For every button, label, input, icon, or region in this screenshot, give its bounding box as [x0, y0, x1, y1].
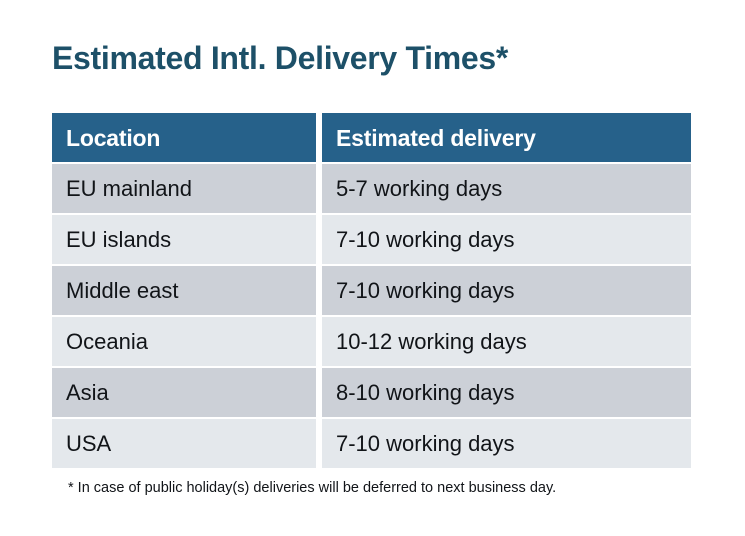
cell-location: EU mainland: [52, 164, 316, 213]
table-row: EU islands 7-10 working days: [52, 215, 691, 264]
column-header-location: Location: [52, 113, 316, 162]
column-header-estimated-delivery: Estimated delivery: [322, 113, 691, 162]
cell-delivery: 8-10 working days: [322, 368, 691, 417]
page-title: Estimated Intl. Delivery Times*: [52, 38, 508, 78]
cell-delivery: 5-7 working days: [322, 164, 691, 213]
table-row: Middle east 7-10 working days: [52, 266, 691, 315]
cell-delivery: 7-10 working days: [322, 266, 691, 315]
cell-location: Middle east: [52, 266, 316, 315]
table-header-row: Location Estimated delivery: [52, 113, 691, 162]
table-row: Asia 8-10 working days: [52, 368, 691, 417]
cell-delivery: 10-12 working days: [322, 317, 691, 366]
delivery-times-page: Estimated Intl. Delivery Times* Location…: [0, 0, 745, 536]
table-row: USA 7-10 working days: [52, 419, 691, 468]
cell-location: USA: [52, 419, 316, 468]
footnote-text: * In case of public holiday(s) deliverie…: [68, 478, 556, 498]
cell-location: EU islands: [52, 215, 316, 264]
cell-location: Oceania: [52, 317, 316, 366]
table-row: EU mainland 5-7 working days: [52, 164, 691, 213]
delivery-times-table: Location Estimated delivery EU mainland …: [52, 113, 691, 468]
cell-location: Asia: [52, 368, 316, 417]
cell-delivery: 7-10 working days: [322, 215, 691, 264]
cell-delivery: 7-10 working days: [322, 419, 691, 468]
table-row: Oceania 10-12 working days: [52, 317, 691, 366]
